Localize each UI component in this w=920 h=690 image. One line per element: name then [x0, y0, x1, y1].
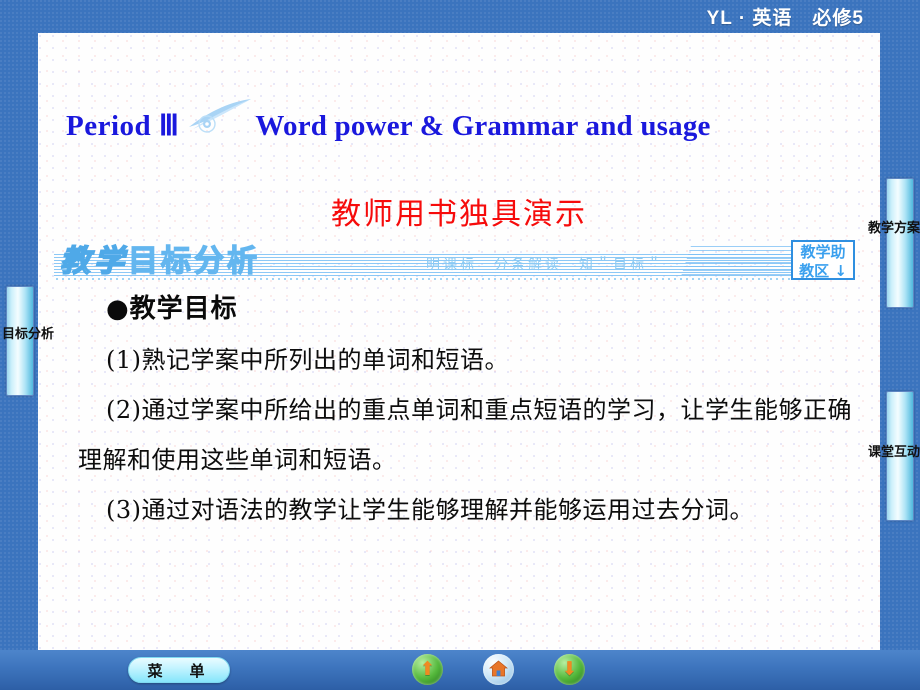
- comet-swoosh-icon: [181, 111, 253, 141]
- arrow-up-icon: ⬆: [420, 660, 436, 679]
- section-banner-subtext: 明课标 分条解读 知＂目标＂: [426, 254, 664, 274]
- content-body: ●教学目标 (1)熟记学案中所列出的单词和短语。 (2)通过学案中所给出的重点单…: [78, 288, 858, 535]
- slide-title: Period Ⅲ Word power & Grammar and usage: [66, 108, 711, 143]
- sidebar-tab-classroom-interaction-label: 课堂互动: [868, 441, 920, 460]
- section-banner-title-brush: 教学: [60, 244, 128, 279]
- home-slide-button[interactable]: [483, 654, 514, 685]
- title-main-label: Word power & Grammar and usage: [255, 110, 710, 143]
- sidebar-tab-objectives-label: 目标分析: [2, 323, 54, 342]
- slide-header: YL · 英语 必修5: [0, 0, 920, 33]
- teaching-assist-button-line2: 教区 ↓: [793, 262, 853, 281]
- sidebar-tab-teaching-plan[interactable]: [886, 178, 914, 308]
- arrow-down-icon: ⬇: [562, 660, 578, 679]
- header-title: YL · 英语 必修5: [707, 3, 864, 30]
- teaching-assist-button-line1: 教学助: [793, 243, 853, 262]
- title-period-label: Period Ⅲ: [66, 108, 179, 143]
- prev-slide-button[interactable]: ⬆: [412, 654, 443, 685]
- goal-paragraph-3: (3)通过对语法的教学让学生能够理解并能够运用过去分词。: [78, 485, 858, 535]
- goal-heading: ●教学目标: [106, 288, 858, 325]
- slide-nav-icons: ⬆ ⬇: [412, 654, 585, 685]
- menu-button[interactable]: 菜 单: [128, 657, 230, 683]
- goal-paragraph-1: (1)熟记学案中所列出的单词和短语。: [78, 335, 858, 385]
- presentation-slide: YL · 英语 必修5 目标分析 教学方案 课堂互动 Period Ⅲ: [0, 0, 920, 690]
- slide-footer: 菜 单 ⬆ ⬇: [0, 650, 920, 690]
- next-slide-button[interactable]: ⬇: [554, 654, 585, 685]
- home-icon: [489, 660, 508, 680]
- section-banner-title-outline: 目标分析: [128, 244, 260, 279]
- teaching-assist-button[interactable]: 教学助 教区 ↓: [791, 240, 855, 280]
- slide-content-card: Period Ⅲ Word power & Grammar and usage …: [38, 33, 880, 650]
- section-banner-title: 教学目标分析: [60, 236, 260, 280]
- section-banner: 教学目标分析 明课标 分条解读 知＂目标＂ 教学助 教区 ↓: [46, 236, 872, 284]
- sidebar-tab-teaching-plan-label: 教学方案: [868, 217, 920, 236]
- goal-paragraph-2: (2)通过学案中所给出的重点单词和重点短语的学习，让学生能够正确理解和使用这些单…: [78, 385, 858, 485]
- subtitle-red: 教师用书独具演示: [38, 189, 880, 233]
